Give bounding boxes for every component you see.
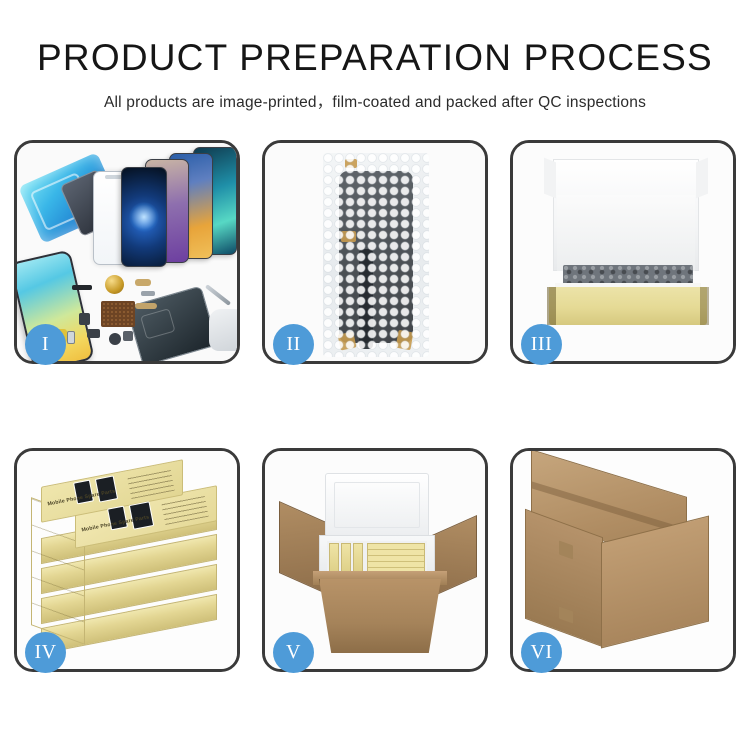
- bubble-wrap-bag-graphic: [323, 153, 429, 357]
- process-step-panel-2: II: [262, 140, 488, 364]
- process-step-panel-4: Mobile Phone Spare Parts Mobile Phone Sp…: [14, 448, 240, 672]
- process-step-panel-3: III: [510, 140, 736, 364]
- process-step-grid: I II III: [14, 140, 736, 672]
- bubble-texture-graphic: [323, 153, 429, 357]
- component-part-graphic: [79, 313, 90, 325]
- yellow-tray-graphic: [549, 287, 707, 325]
- phone-blue-graphic: [121, 167, 167, 267]
- page-subtitle: All products are image-printed，film-coat…: [0, 90, 750, 112]
- component-part-graphic: [72, 285, 92, 290]
- page-title: PRODUCT PREPARATION PROCESS: [0, 38, 750, 79]
- phone-chassis-graphic: [126, 285, 218, 361]
- component-part-graphic: [135, 279, 151, 286]
- logic-board-graphic: [101, 301, 135, 327]
- process-step-panel-5: V: [262, 448, 488, 672]
- component-part-graphic: [87, 329, 100, 338]
- process-step-panel-1: I: [14, 140, 240, 364]
- step-badge-6: VI: [521, 632, 562, 673]
- component-part-graphic: [123, 331, 133, 341]
- step-badge-3: III: [521, 324, 562, 365]
- step-badge-1: I: [25, 324, 66, 365]
- step-badge-4: IV: [25, 632, 66, 673]
- step-badge-5: V: [273, 632, 314, 673]
- page-header: PRODUCT PREPARATION PROCESS All products…: [0, 0, 750, 112]
- process-step-panel-6: VI: [510, 448, 736, 672]
- component-part-graphic: [109, 333, 121, 345]
- component-part-graphic: [141, 291, 155, 296]
- foam-lid-graphic: [325, 473, 429, 537]
- taptic-engine-graphic: [105, 275, 124, 294]
- tweezers-graphic: [205, 284, 231, 306]
- component-part-graphic: [67, 331, 75, 344]
- foam-backing-graphic: [557, 195, 695, 271]
- glove-graphic: [209, 309, 237, 351]
- carton-body-graphic: [319, 579, 441, 653]
- step-badge-2: II: [273, 324, 314, 365]
- flex-cable-graphic: [135, 303, 157, 309]
